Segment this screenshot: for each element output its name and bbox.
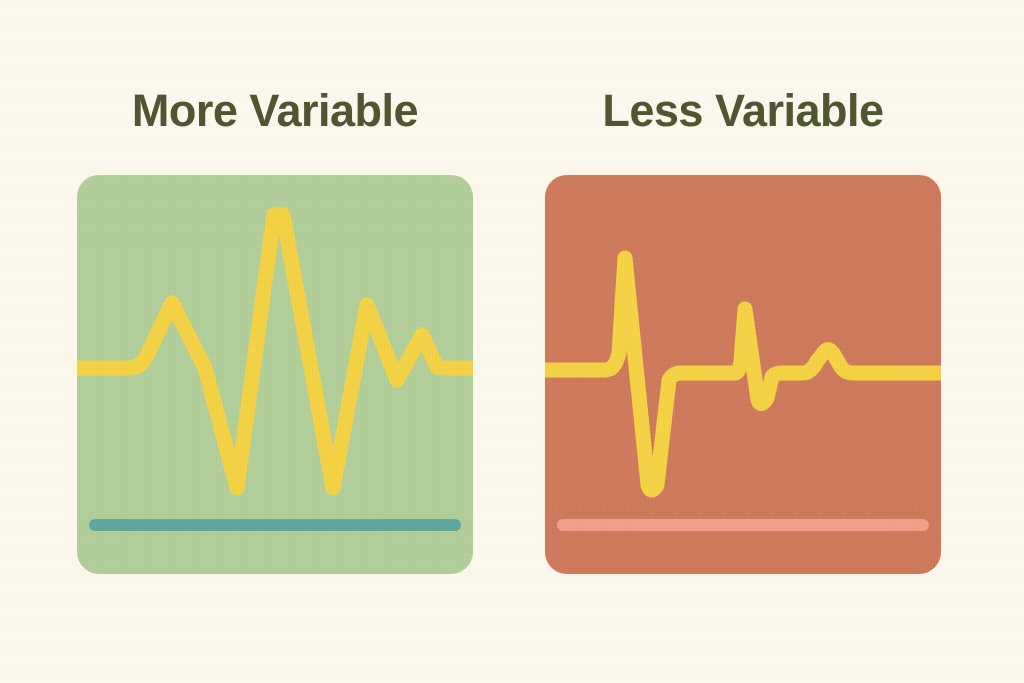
panel-more-variable: More Variable <box>77 88 473 574</box>
waveform-line-less-variable <box>545 258 941 490</box>
panel-title-less-variable: Less Variable <box>545 88 941 133</box>
comparison-stage: More Variable Less Variable <box>0 0 1024 683</box>
waveform-chart-more-variable <box>77 175 473 574</box>
card-more-variable <box>77 175 473 574</box>
panel-less-variable: Less Variable <box>545 88 941 574</box>
panel-title-more-variable: More Variable <box>77 88 473 133</box>
card-less-variable <box>545 175 941 574</box>
waveform-chart-less-variable <box>545 175 941 574</box>
waveform-line-more-variable <box>77 215 473 488</box>
